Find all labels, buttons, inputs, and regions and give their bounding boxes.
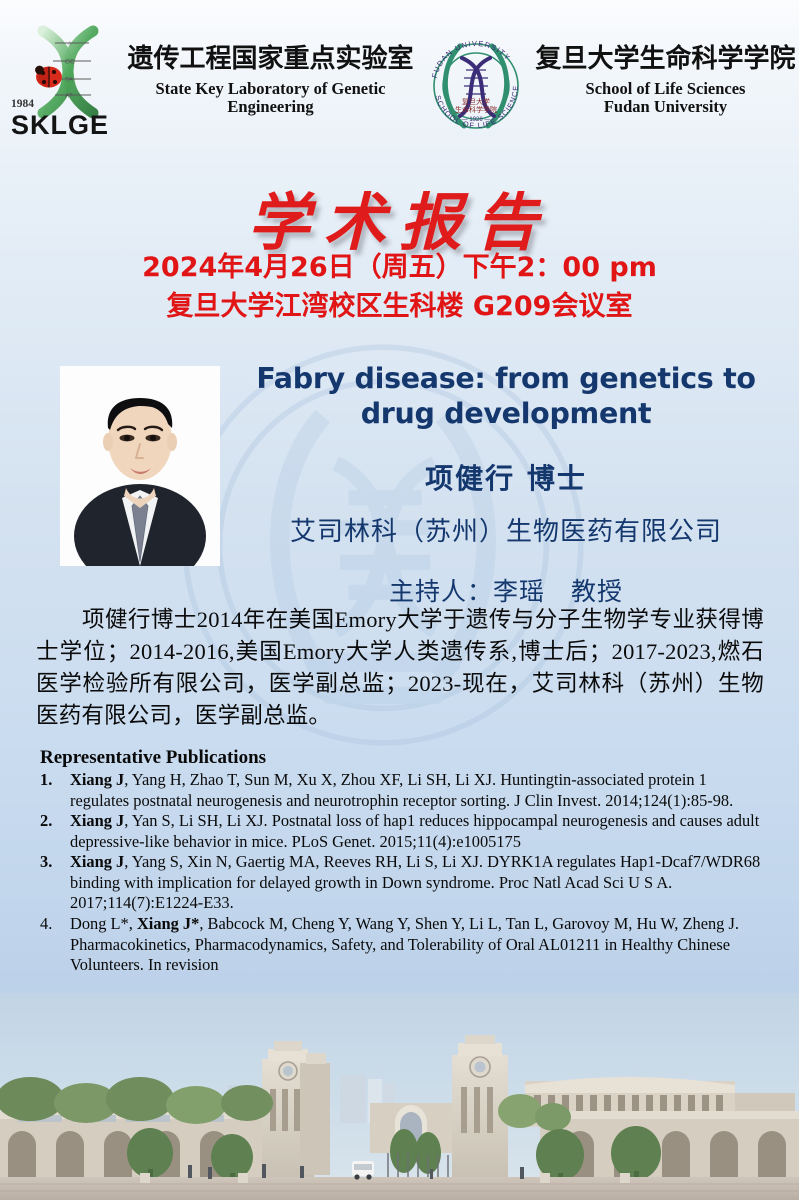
publication-text: Dong L*, Xiang J*, Babcock M, Cheng Y, W… — [70, 914, 766, 976]
crest-center-cn1: 复旦大学 — [462, 97, 490, 106]
poster-header: ☆ GC TA AT 1984 SKLGE — [0, 0, 799, 162]
publication-author-bold: Xiang J — [70, 770, 124, 789]
header-left-institution: ☆ GC TA AT 1984 SKLGE — [3, 21, 413, 141]
publication-item: 4. Dong L*, Xiang J*, Babcock M, Cheng Y… — [40, 914, 766, 976]
sklge-name-cn: 遗传工程国家重点实验室 — [127, 45, 413, 74]
publication-text: Xiang J, Yang H, Zhao T, Sun M, Xu X, Zh… — [70, 770, 766, 811]
svg-text:AT: AT — [65, 92, 73, 99]
svg-text:GC: GC — [65, 58, 75, 65]
header-right-institution: 复旦大学 生命科学学院 — 1926 — FUDAN UNIVERSITY SC… — [420, 16, 796, 146]
campus-illustration — [0, 993, 799, 1200]
sklge-year: 1984 — [11, 98, 34, 110]
event-meta: 2024年4月26日（周五）下午2：00 pm 复旦大学江湾校区生科楼 G209… — [0, 248, 799, 326]
fudan-school-of-life-sciences-crest: 复旦大学 生命科学学院 — 1926 — FUDAN UNIVERSITY SC… — [420, 16, 532, 146]
publications-section: Representative Publications 1. Xiang J, … — [40, 747, 766, 976]
publication-number: 4. — [40, 914, 70, 976]
publication-item: 2. Xiang J, Yan S, Li SH, Li XJ. Postnat… — [40, 811, 766, 852]
publication-number: 2. — [40, 811, 70, 852]
crest-center-cn2: 生命科学学院 — [455, 105, 497, 114]
speaker-portrait — [60, 366, 220, 566]
sklge-name-en: State Key Laboratory of Genetic Engineer… — [127, 80, 413, 117]
talk-title: Fabry disease: from genetics to drug dev… — [236, 362, 776, 432]
publication-author-bold: Xiang J — [70, 811, 124, 830]
publication-number: 3. — [40, 852, 70, 914]
event-venue: 复旦大学江湾校区生科楼 G209会议室 — [0, 287, 799, 326]
ladybug-icon — [36, 66, 63, 88]
seminar-poster: ☆ GC TA AT 1984 SKLGE — [0, 0, 799, 1200]
publication-item: 3. Xiang J, Yang S, Xin N, Gaertig MA, R… — [40, 852, 766, 914]
speaker-affiliation: 艾司林科（苏州）生物医药有限公司 — [236, 511, 776, 548]
publication-author-bold: Xiang J* — [137, 914, 199, 933]
speaker-biography: 项健行博士2014年在美国Emory大学于遗传与分子生物学专业获得博士学位；20… — [36, 604, 764, 732]
sls-name-cn: 复旦大学生命科学学院 — [536, 45, 796, 74]
sls-name-en: School of Life Sciences Fudan University — [536, 80, 796, 117]
speaker-name: 项健行 博士 — [236, 457, 776, 497]
talk-info: Fabry disease: from genetics to drug dev… — [236, 362, 776, 608]
svg-text:TA: TA — [65, 76, 73, 83]
svg-text:☆: ☆ — [67, 39, 73, 47]
event-host: 主持人：李瑶 教授 — [236, 572, 776, 608]
portrait-illustration — [60, 366, 220, 566]
sklge-acronym: SKLGE — [11, 110, 109, 140]
campus-photo — [0, 993, 799, 1200]
publication-text: Xiang J, Yang S, Xin N, Gaertig MA, Reev… — [70, 852, 766, 914]
event-datetime: 2024年4月26日（周五）下午2：00 pm — [0, 248, 799, 287]
sklge-dna-ladybug-logo: ☆ GC TA AT 1984 SKLGE — [3, 21, 127, 141]
publications-heading: Representative Publications — [40, 747, 766, 769]
publication-number: 1. — [40, 770, 70, 811]
publication-author-bold: Xiang J — [70, 852, 124, 871]
publication-text: Xiang J, Yan S, Li SH, Li XJ. Postnatal … — [70, 811, 766, 852]
publication-item: 1. Xiang J, Yang H, Zhao T, Sun M, Xu X,… — [40, 770, 766, 811]
